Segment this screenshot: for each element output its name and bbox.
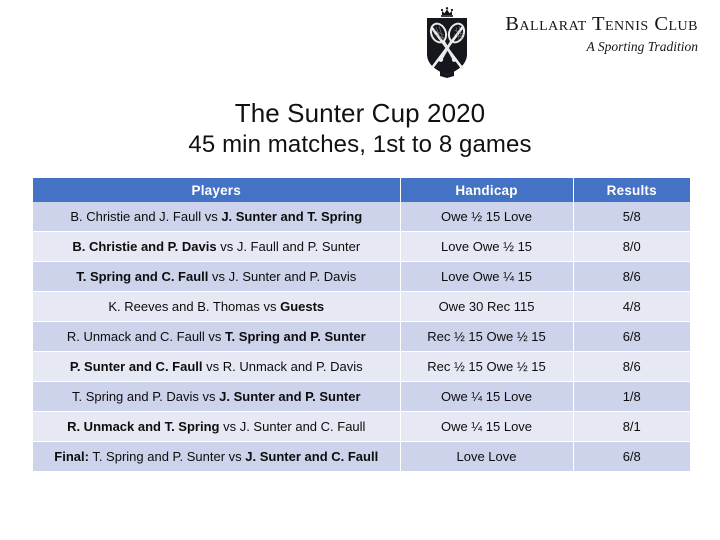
cell-handicap: Love Owe ½ 15	[400, 232, 573, 262]
cell-results: 8/6	[573, 262, 690, 292]
club-name: Ballarat Tennis Club	[505, 14, 698, 36]
cell-results: 8/6	[573, 352, 690, 382]
cell-players: R. Unmack and T. Spring vs J. Sunter and…	[33, 412, 400, 442]
title-main: The Sunter Cup 2020	[0, 98, 720, 130]
cell-handicap: Rec ½ 15 Owe ½ 15	[400, 352, 573, 382]
club-logo: Ballarat Tennis Club A Sporting Traditio…	[418, 6, 702, 80]
cell-handicap: Owe ¼ 15 Love	[400, 412, 573, 442]
cell-players: B. Christie and J. Faull vs J. Sunter an…	[33, 202, 400, 232]
cell-players: Final: T. Spring and P. Sunter vs J. Sun…	[33, 442, 400, 472]
players-emphasis: Final:	[54, 449, 89, 464]
players-text: vs J. Sunter and C. Faull	[219, 419, 365, 434]
table-row: P. Sunter and C. Faull vs R. Unmack and …	[33, 352, 690, 382]
players-text: vs R. Unmack and P. Davis	[203, 359, 363, 374]
cell-results: 8/1	[573, 412, 690, 442]
cell-results: 4/8	[573, 292, 690, 322]
page-title: The Sunter Cup 2020 45 min matches, 1st …	[0, 98, 720, 159]
cell-results: 5/8	[573, 202, 690, 232]
players-emphasis: P. Sunter and C. Faull	[70, 359, 203, 374]
players-text: R. Unmack and C. Faull vs	[67, 329, 225, 344]
cell-handicap: Love Owe ¼ 15	[400, 262, 573, 292]
table-row: R. Unmack and C. Faull vs T. Spring and …	[33, 322, 690, 352]
cell-handicap: Owe ¼ 15 Love	[400, 382, 573, 412]
cell-players: T. Spring and C. Faull vs J. Sunter and …	[33, 262, 400, 292]
players-emphasis: T. Spring and P. Sunter	[225, 329, 366, 344]
cell-players: B. Christie and P. Davis vs J. Faull and…	[33, 232, 400, 262]
shield-crest-icon	[418, 6, 480, 78]
table-row: Final: T. Spring and P. Sunter vs J. Sun…	[33, 442, 690, 472]
cell-players: T. Spring and P. Davis vs J. Sunter and …	[33, 382, 400, 412]
players-emphasis: J. Sunter and C. Faull	[245, 449, 378, 464]
players-text: vs J. Faull and P. Sunter	[217, 239, 361, 254]
cell-results: 6/8	[573, 322, 690, 352]
table-row: B. Christie and P. Davis vs J. Faull and…	[33, 232, 690, 262]
cell-players: R. Unmack and C. Faull vs T. Spring and …	[33, 322, 400, 352]
cell-results: 6/8	[573, 442, 690, 472]
players-emphasis: Guests	[280, 299, 324, 314]
table-row: T. Spring and P. Davis vs J. Sunter and …	[33, 382, 690, 412]
club-tagline: A Sporting Tradition	[586, 39, 698, 55]
cell-players: P. Sunter and C. Faull vs R. Unmack and …	[33, 352, 400, 382]
column-header-handicap: Handicap	[400, 178, 573, 202]
table-row: T. Spring and C. Faull vs J. Sunter and …	[33, 262, 690, 292]
players-emphasis: B. Christie and P. Davis	[72, 239, 216, 254]
logo-wordmark: Ballarat Tennis Club A Sporting Traditio…	[486, 6, 698, 55]
cell-players: K. Reeves and B. Thomas vs Guests	[33, 292, 400, 322]
table-header-row: Players Handicap Results	[33, 178, 690, 202]
players-emphasis: J. Sunter and P. Sunter	[219, 389, 360, 404]
players-text: vs J. Sunter and P. Davis	[208, 269, 356, 284]
cell-results: 1/8	[573, 382, 690, 412]
cell-handicap: Rec ½ 15 Owe ½ 15	[400, 322, 573, 352]
players-text: T. Spring and P. Davis vs	[72, 389, 219, 404]
column-header-players: Players	[33, 178, 400, 202]
cell-handicap: Owe 30 Rec 115	[400, 292, 573, 322]
players-text: K. Reeves and B. Thomas vs	[108, 299, 280, 314]
players-text: B. Christie and J. Faull vs	[70, 209, 221, 224]
table-body: B. Christie and J. Faull vs J. Sunter an…	[33, 202, 690, 472]
cell-results: 8/0	[573, 232, 690, 262]
table-row: B. Christie and J. Faull vs J. Sunter an…	[33, 202, 690, 232]
results-table: Players Handicap Results B. Christie and…	[33, 178, 690, 472]
table-row: R. Unmack and T. Spring vs J. Sunter and…	[33, 412, 690, 442]
players-emphasis: R. Unmack and T. Spring	[67, 419, 219, 434]
table-row: K. Reeves and B. Thomas vs GuestsOwe 30 …	[33, 292, 690, 322]
players-emphasis: T. Spring and C. Faull	[76, 269, 208, 284]
column-header-results: Results	[573, 178, 690, 202]
cell-handicap: Owe ½ 15 Love	[400, 202, 573, 232]
players-text: T. Spring and P. Sunter vs	[89, 449, 245, 464]
players-emphasis: J. Sunter and T. Spring	[221, 209, 362, 224]
cell-handicap: Love Love	[400, 442, 573, 472]
title-subtitle: 45 min matches, 1st to 8 games	[0, 130, 720, 159]
